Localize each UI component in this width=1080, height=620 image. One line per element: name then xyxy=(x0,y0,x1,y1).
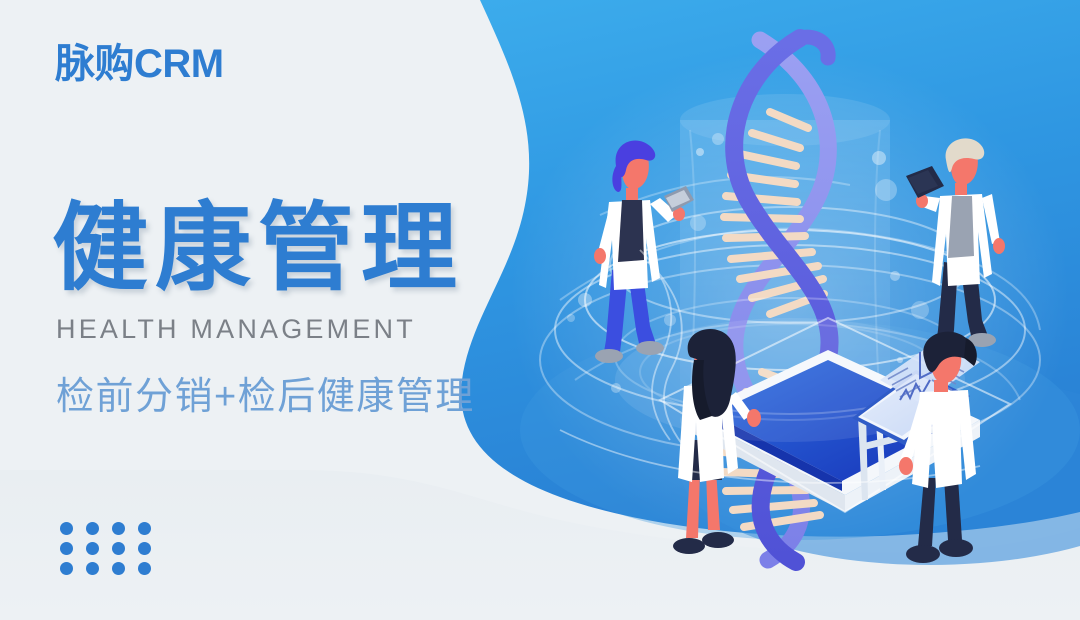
left-text-panel: 脉购CRM 健康管理 HEALTH MANAGEMENT 检前分销+检后健康管理 xyxy=(0,0,540,620)
grid-dot xyxy=(112,522,125,535)
grid-dot xyxy=(112,542,125,555)
health-management-banner: 脉购CRM 健康管理 HEALTH MANAGEMENT 检前分销+检后健康管理 xyxy=(0,0,1080,620)
brand-logo-text: 脉购CRM xyxy=(55,42,224,86)
brand-logo[interactable]: 脉购CRM xyxy=(55,44,224,84)
grid-dot xyxy=(60,522,73,535)
grid-dot xyxy=(60,542,73,555)
subtitle-chinese: 检前分销+检后健康管理 xyxy=(56,375,475,421)
dot-grid-decoration xyxy=(60,522,164,582)
grid-dot xyxy=(138,562,151,575)
grid-dot xyxy=(86,542,99,555)
grid-dot xyxy=(86,562,99,575)
doctor-female-tablet xyxy=(594,140,694,363)
grid-dot xyxy=(138,522,151,535)
grid-dot xyxy=(112,562,125,575)
grid-dot xyxy=(86,522,99,535)
subtitle-english: HEALTH MANAGEMENT xyxy=(56,316,416,343)
page-title: 健康管理 xyxy=(52,198,464,300)
grid-dot xyxy=(60,562,73,575)
grid-dot xyxy=(138,542,151,555)
